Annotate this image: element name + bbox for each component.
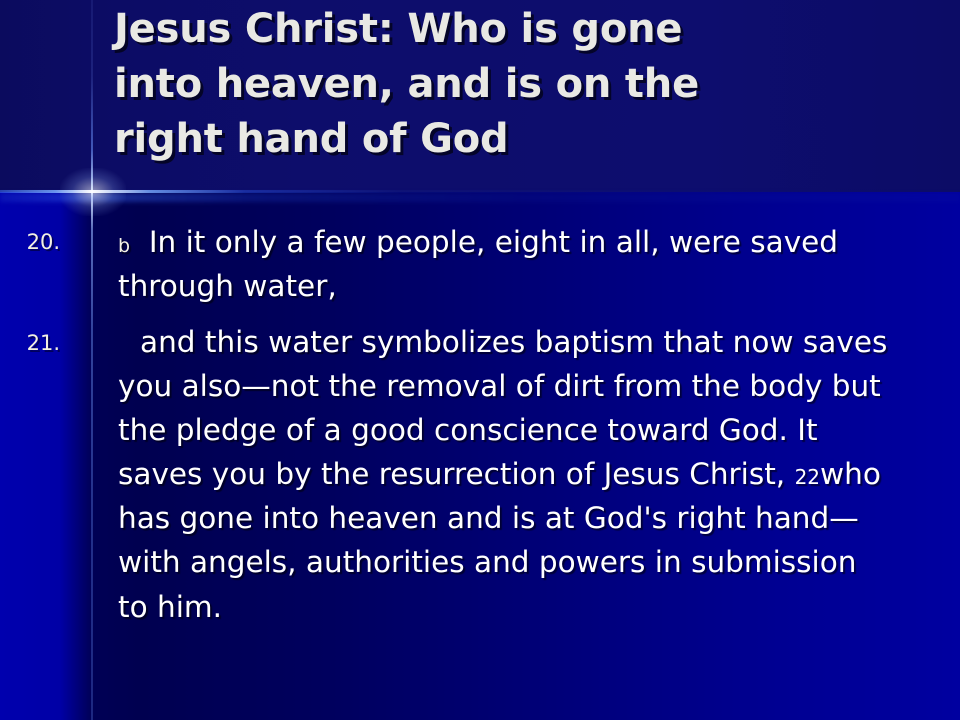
list-item-body-text: In it only a few people, eight in all, w… — [118, 225, 838, 303]
list-item-number: 20. — [0, 230, 60, 254]
slide-title: Jesus Christ: Who is gone into heaven, a… — [114, 2, 904, 166]
presentation-slide: Jesus Christ: Who is gone into heaven, a… — [0, 0, 960, 720]
list-item-number: 21. — [0, 331, 60, 355]
list-item-text: b In it only a few people, eight in all,… — [118, 220, 890, 308]
list-item-body-text-before: and this water symbolizes baptism that n… — [118, 325, 887, 491]
verse-number: 22 — [795, 465, 820, 489]
slide-title-line: into heaven, and is on the — [114, 57, 904, 112]
list-item-text: and this water symbolizes baptism that n… — [118, 320, 890, 629]
sub-marker: b — [118, 235, 130, 257]
slide-title-line: right hand of God — [114, 112, 904, 167]
slide-body: 20. b In it only a few people, eight in … — [0, 192, 960, 720]
slide-title-line: Jesus Christ: Who is gone — [114, 2, 904, 57]
